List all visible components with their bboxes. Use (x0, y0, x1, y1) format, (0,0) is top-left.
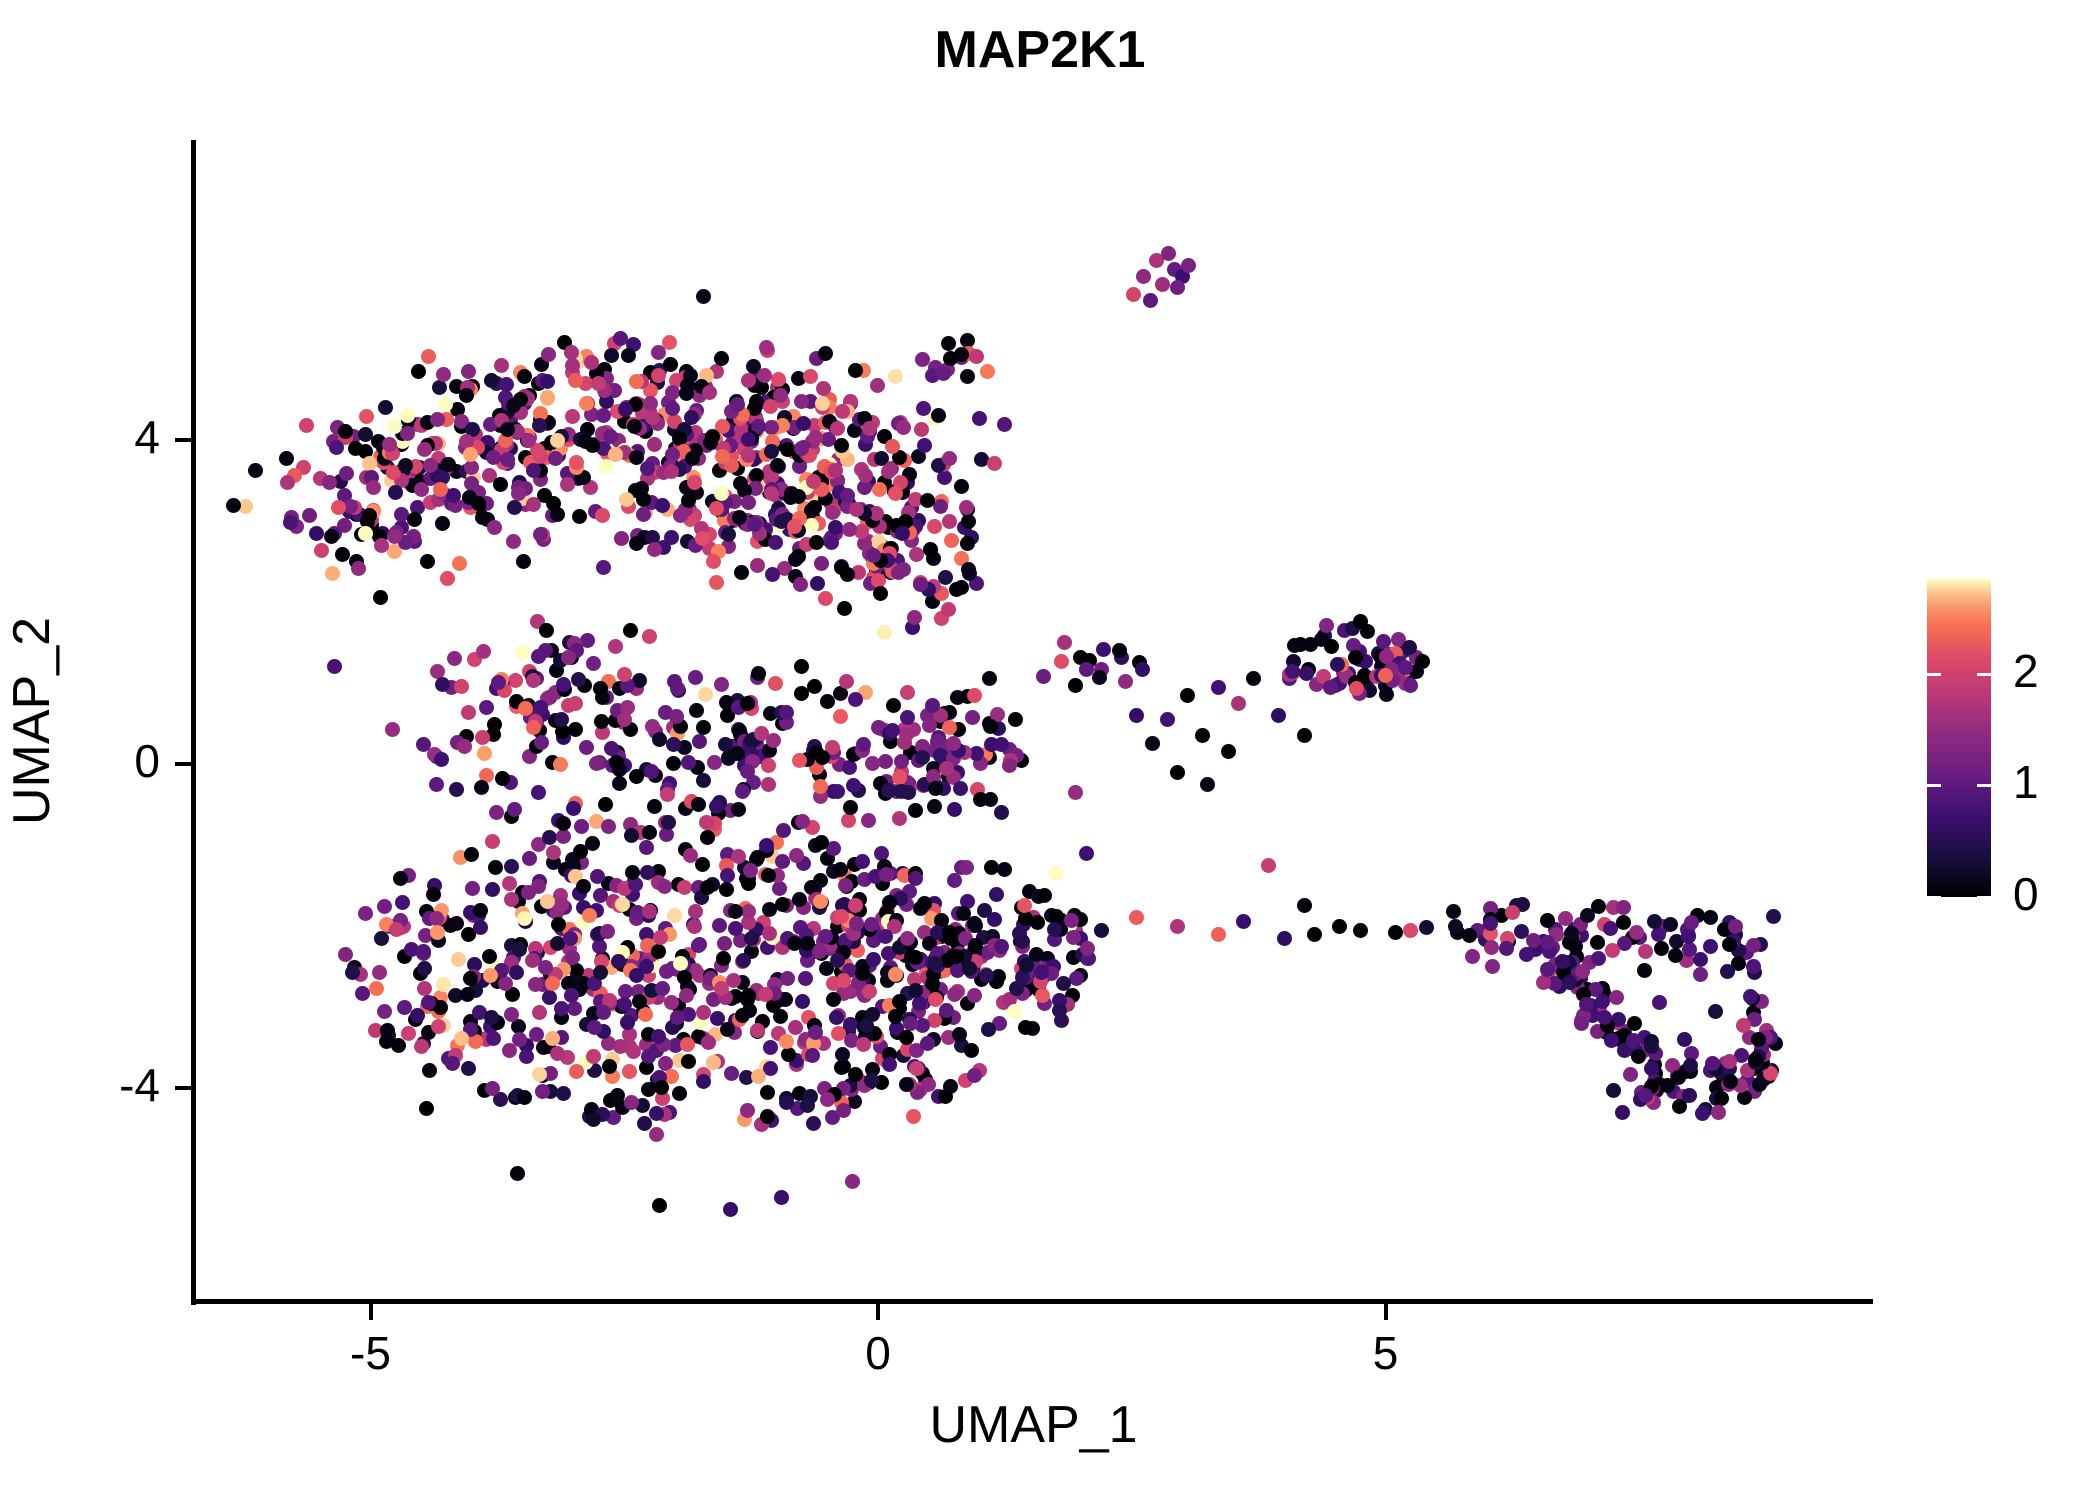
scatter-point (546, 845, 561, 860)
scatter-point (417, 442, 432, 457)
scatter-point (582, 908, 597, 923)
scatter-point (679, 988, 694, 1003)
scatter-point (1448, 919, 1463, 934)
scatter-point (759, 838, 774, 853)
y-axis-label: UMAP_2 (2, 617, 62, 825)
scatter-point (362, 508, 377, 523)
scatter-point (1403, 923, 1418, 938)
scatter-point (837, 601, 852, 616)
scatter-point (359, 409, 374, 424)
scatter-point (528, 977, 543, 992)
scatter-point (1616, 915, 1631, 930)
scatter-point (504, 1007, 519, 1022)
scatter-point (572, 509, 587, 524)
colorbar-tick-label: 1 (2013, 755, 2100, 809)
scatter-point (842, 760, 857, 775)
scatter-point (1575, 964, 1590, 979)
scatter-point (374, 538, 389, 553)
scatter-point (473, 920, 488, 935)
scatter-point (731, 849, 746, 864)
scatter-point (1135, 662, 1150, 677)
scatter-point (533, 527, 548, 542)
scatter-point (1708, 1004, 1723, 1019)
scatter-point (398, 458, 413, 473)
scatter-point (855, 854, 870, 869)
scatter-point (377, 1004, 392, 1019)
scatter-point (903, 1016, 918, 1031)
scatter-point (908, 871, 923, 886)
scatter-point (770, 458, 785, 473)
scatter-point (569, 1064, 584, 1079)
scatter-point (750, 558, 765, 573)
scatter-point (1170, 919, 1185, 934)
scatter-point (1319, 618, 1334, 633)
scatter-point (624, 1095, 639, 1110)
scatter-point (959, 860, 974, 875)
scatter-point (566, 801, 581, 816)
scatter-point (1714, 1091, 1729, 1106)
scatter-point (794, 686, 809, 701)
scatter-point (681, 493, 696, 508)
scatter-point (856, 737, 871, 752)
scatter-point (788, 1020, 803, 1035)
scatter-point (939, 1003, 954, 1018)
scatter-point (762, 926, 777, 941)
scatter-point (1746, 938, 1761, 953)
scatter-point (654, 1080, 669, 1095)
scatter-point (699, 815, 714, 830)
scatter-point (681, 1054, 696, 1069)
scatter-point (550, 936, 565, 951)
scatter-point (416, 944, 431, 959)
scatter-point (728, 921, 743, 936)
scatter-point (977, 903, 992, 918)
scatter-point (788, 552, 803, 567)
scatter-point (609, 755, 624, 770)
scatter-point (438, 397, 453, 412)
scatter-point (835, 404, 850, 419)
scatter-point (943, 1079, 958, 1094)
scatter-point (969, 349, 984, 364)
scatter-point (829, 1010, 844, 1025)
scatter-point (660, 787, 675, 802)
scatter-point (617, 667, 632, 682)
scatter-point (647, 799, 662, 814)
scatter-point (967, 988, 982, 1003)
scatter-point (417, 961, 432, 976)
scatter-point (681, 755, 696, 770)
scatter-point (1378, 668, 1393, 683)
scatter-point (475, 730, 490, 745)
y-tick-mark (175, 438, 191, 442)
scatter-point (345, 965, 360, 980)
scatter-point (1048, 866, 1063, 881)
scatter-point (972, 411, 987, 426)
scatter-point (495, 771, 510, 786)
scatter-point (1597, 1010, 1612, 1025)
scatter-point (595, 508, 610, 523)
scatter-point (1736, 1018, 1751, 1033)
scatter-point (283, 515, 298, 530)
scatter-point (677, 880, 692, 895)
scatter-point (1462, 928, 1477, 943)
scatter-point (1008, 712, 1023, 727)
scatter-point (1720, 964, 1735, 979)
scatter-point (1579, 997, 1594, 1012)
scatter-point (1353, 614, 1368, 629)
scatter-point (692, 734, 707, 749)
scatter-point (878, 929, 893, 944)
scatter-point (791, 489, 806, 504)
scatter-point (892, 811, 907, 826)
scatter-point (942, 451, 957, 466)
scatter-point (925, 698, 940, 713)
scatter-point (548, 451, 563, 466)
scatter-point (835, 1047, 850, 1062)
scatter-point (602, 1059, 617, 1074)
scatter-point (807, 500, 822, 515)
scatter-point (665, 385, 680, 400)
scatter-point (1519, 947, 1534, 962)
scatter-point (849, 502, 864, 517)
scatter-point (715, 449, 730, 464)
scatter-point (449, 782, 464, 797)
scatter-point (358, 526, 373, 541)
scatter-point (382, 437, 397, 452)
scatter-point (1145, 736, 1160, 751)
scatter-point (765, 567, 780, 582)
scatter-point (491, 675, 506, 690)
scatter-point (997, 862, 1012, 877)
scatter-point (730, 397, 745, 412)
scatter-point (936, 366, 951, 381)
scatter-point (389, 922, 404, 937)
scatter-point (833, 709, 848, 724)
x-tick-mark (876, 1304, 880, 1320)
scatter-point (519, 1049, 534, 1064)
scatter-point (761, 758, 776, 773)
scatter-point (302, 508, 317, 523)
scatter-point (538, 643, 553, 658)
scatter-point (677, 970, 692, 985)
scatter-point (515, 645, 530, 660)
colorbar-tick-label: 0 (2013, 867, 2100, 921)
scatter-point (445, 1056, 460, 1071)
scatter-point (560, 477, 575, 492)
scatter-point (761, 777, 776, 792)
scatter-point (816, 381, 831, 396)
scatter-point (500, 452, 515, 467)
scatter-point (741, 988, 756, 1003)
scatter-point (1180, 688, 1195, 703)
scatter-point (888, 1009, 903, 1024)
scatter-point (533, 700, 548, 715)
scatter-point (814, 556, 829, 571)
scatter-point (338, 424, 353, 439)
scatter-point (1446, 904, 1461, 919)
scatter-point (629, 769, 644, 784)
scatter-point (775, 854, 790, 869)
scatter-point (587, 1020, 602, 1035)
scatter-point (636, 507, 651, 522)
scatter-point (506, 398, 521, 413)
scatter-point (1330, 657, 1345, 672)
scatter-point (540, 390, 555, 405)
scatter-point (810, 576, 825, 591)
scatter-point (1398, 660, 1413, 675)
scatter-point (828, 520, 843, 535)
scatter-point (1695, 1106, 1710, 1121)
scatter-point (649, 1127, 664, 1142)
scatter-point (430, 925, 445, 940)
scatter-point (696, 1074, 711, 1089)
scatter-point (540, 374, 555, 389)
scatter-point (714, 981, 729, 996)
scatter-point (947, 873, 962, 888)
y-axis-label-wrap: UMAP_2 (0, 140, 64, 1302)
scatter-point (858, 468, 873, 483)
scatter-point (685, 451, 700, 466)
scatter-point (539, 623, 554, 638)
scatter-point (1660, 1078, 1675, 1093)
scatter-point (696, 1005, 711, 1020)
scatter-point (593, 965, 608, 980)
scatter-point (759, 340, 774, 355)
scatter-point (813, 779, 828, 794)
scatter-point (808, 430, 823, 445)
scatter-point (661, 815, 676, 830)
scatter-point (563, 931, 578, 946)
scatter-point (928, 781, 943, 796)
scatter-point (1332, 919, 1347, 934)
scatter-point (1668, 948, 1683, 963)
scatter-point (1181, 258, 1196, 273)
scatter-point (761, 868, 776, 883)
scatter-point (736, 953, 751, 968)
scatter-point (1595, 994, 1610, 1009)
x-tick-mark (369, 1304, 373, 1320)
scatter-point (1324, 639, 1339, 654)
scatter-point (1231, 696, 1246, 711)
scatter-point (647, 542, 662, 557)
scatter-point (593, 681, 608, 696)
scatter-point (568, 373, 583, 388)
scatter-point (1017, 898, 1032, 913)
scatter-point (691, 797, 706, 812)
scatter-point (1627, 1016, 1642, 1031)
scatter-point (531, 785, 546, 800)
scatter-point (421, 349, 436, 364)
scatter-point (806, 1116, 821, 1131)
scatter-point (510, 1166, 525, 1181)
scatter-point (1682, 1088, 1697, 1103)
scatter-point (489, 805, 504, 820)
scatter-point (1705, 1056, 1720, 1071)
scatter-point (1684, 915, 1699, 930)
scatter-point (1580, 908, 1595, 923)
scatter-point (673, 508, 688, 523)
scatter-point (741, 373, 756, 388)
scatter-point (504, 892, 519, 907)
scatter-point (540, 894, 555, 909)
scatter-point (644, 764, 659, 779)
scatter-point (1052, 1003, 1067, 1018)
scatter-point (324, 529, 339, 544)
scatter-point (808, 1025, 823, 1040)
scatter-point (521, 885, 536, 900)
scatter-point (916, 401, 931, 416)
page-title: MAP2K1 (0, 22, 2080, 79)
scatter-point (429, 777, 444, 792)
scatter-point (586, 656, 601, 671)
scatter-point (695, 531, 710, 546)
scatter-point (861, 813, 876, 828)
scatter-point (842, 522, 857, 537)
scatter-point (1068, 678, 1083, 693)
scatter-point (541, 347, 556, 362)
scatter-point (426, 887, 441, 902)
scatter-point (900, 931, 915, 946)
scatter-point (422, 1063, 437, 1078)
scatter-point (709, 799, 724, 814)
colorbar-tick-mark (1977, 784, 1991, 787)
scatter-point (1555, 954, 1570, 969)
scatter-point (843, 800, 858, 815)
scatter-point (787, 519, 802, 534)
colorbar-gradient (1927, 579, 1991, 897)
scatter-point (435, 677, 450, 692)
scatter-point (1069, 971, 1084, 986)
scatter-point (565, 409, 580, 424)
scatter-point (824, 535, 839, 550)
scatter-point (1353, 923, 1368, 938)
scatter-point (895, 526, 910, 541)
scatter-point (760, 1109, 775, 1124)
scatter-point (669, 709, 684, 724)
scatter-point (1651, 927, 1666, 942)
scatter-point (740, 1103, 755, 1118)
scatter-point (794, 659, 809, 674)
scatter-point (830, 784, 845, 799)
scatter-point (670, 1010, 685, 1025)
scatter-point (454, 679, 469, 694)
scatter-point (696, 289, 711, 304)
x-tick-label: 0 (798, 1326, 958, 1380)
scatter-point (517, 1090, 532, 1105)
scatter-point (772, 881, 787, 896)
scatter-point (840, 488, 855, 503)
scatter-point (792, 892, 807, 907)
scatter-point (700, 880, 715, 895)
scatter-point (741, 904, 756, 919)
scatter-point (1419, 920, 1434, 935)
scatter-point (1118, 674, 1133, 689)
scatter-point (702, 385, 717, 400)
scatter-point (1485, 959, 1500, 974)
scatter-point (666, 756, 681, 771)
scatter-point (647, 437, 662, 452)
scatter-point (1066, 930, 1081, 945)
scatter-point (440, 571, 455, 586)
scatter-point (848, 692, 863, 707)
scatter-point (795, 994, 810, 1009)
scatter-point (888, 967, 903, 982)
scatter-point (407, 512, 422, 527)
scatter-point (1693, 967, 1708, 982)
scatter-point (1287, 638, 1302, 653)
scatter-point (522, 851, 537, 866)
scatter-point (779, 1095, 794, 1110)
scatter-point (484, 373, 499, 388)
scatter-point (1261, 858, 1276, 873)
umap-feature-plot: MAP2K1 -505 40-4 UMAP_1 UMAP_2 210 (0, 0, 2100, 1500)
scatter-point (879, 867, 894, 882)
scatter-point (997, 417, 1012, 432)
scatter-point (968, 938, 983, 953)
scatter-point (794, 441, 809, 456)
scatter-point (741, 448, 756, 463)
scatter-point (504, 859, 519, 874)
scatter-point (529, 1027, 544, 1042)
scatter-point (410, 1008, 425, 1023)
scatter-point (488, 860, 503, 875)
scatter-point (355, 986, 370, 1001)
scatter-point (925, 976, 940, 991)
scatter-point (556, 816, 571, 831)
scatter-point (1644, 1039, 1659, 1054)
scatter-point (642, 629, 657, 644)
scatter-point (946, 736, 961, 751)
scatter-point (1631, 1049, 1646, 1064)
scatter-point (615, 897, 630, 912)
scatter-point (763, 1040, 778, 1055)
scatter-point (927, 519, 942, 534)
scatter-point (774, 1190, 789, 1205)
scatter-point (1654, 941, 1669, 956)
scatter-point (596, 408, 611, 423)
scatter-point (461, 1061, 476, 1076)
scatter-point (987, 456, 1002, 471)
scatter-point (325, 566, 340, 581)
scatter-point (714, 486, 729, 501)
scatter-point (741, 495, 756, 510)
scatter-point (836, 1103, 851, 1118)
scatter-point (949, 582, 964, 597)
colorbar-legend (1927, 579, 1991, 897)
scatter-point (839, 674, 854, 689)
scatter-point (1348, 650, 1363, 665)
scatter-point (449, 916, 464, 931)
scatter-point (573, 844, 588, 859)
scatter-point (434, 752, 449, 767)
scatter-point (378, 400, 393, 415)
scatter-point (554, 897, 569, 912)
scatter-point (1609, 990, 1624, 1005)
plot-panel (194, 140, 1873, 1302)
scatter-point (507, 802, 522, 817)
scatter-point (599, 459, 614, 474)
scatter-point (1379, 687, 1394, 702)
scatter-point (338, 947, 353, 962)
scatter-point (787, 936, 802, 951)
scatter-point (692, 937, 707, 952)
scatter-point (653, 930, 668, 945)
scatter-point (900, 685, 915, 700)
y-axis-line (191, 140, 196, 1305)
scatter-point (818, 929, 833, 944)
scatter-point (927, 799, 942, 814)
x-tick-label: -5 (291, 1326, 451, 1380)
